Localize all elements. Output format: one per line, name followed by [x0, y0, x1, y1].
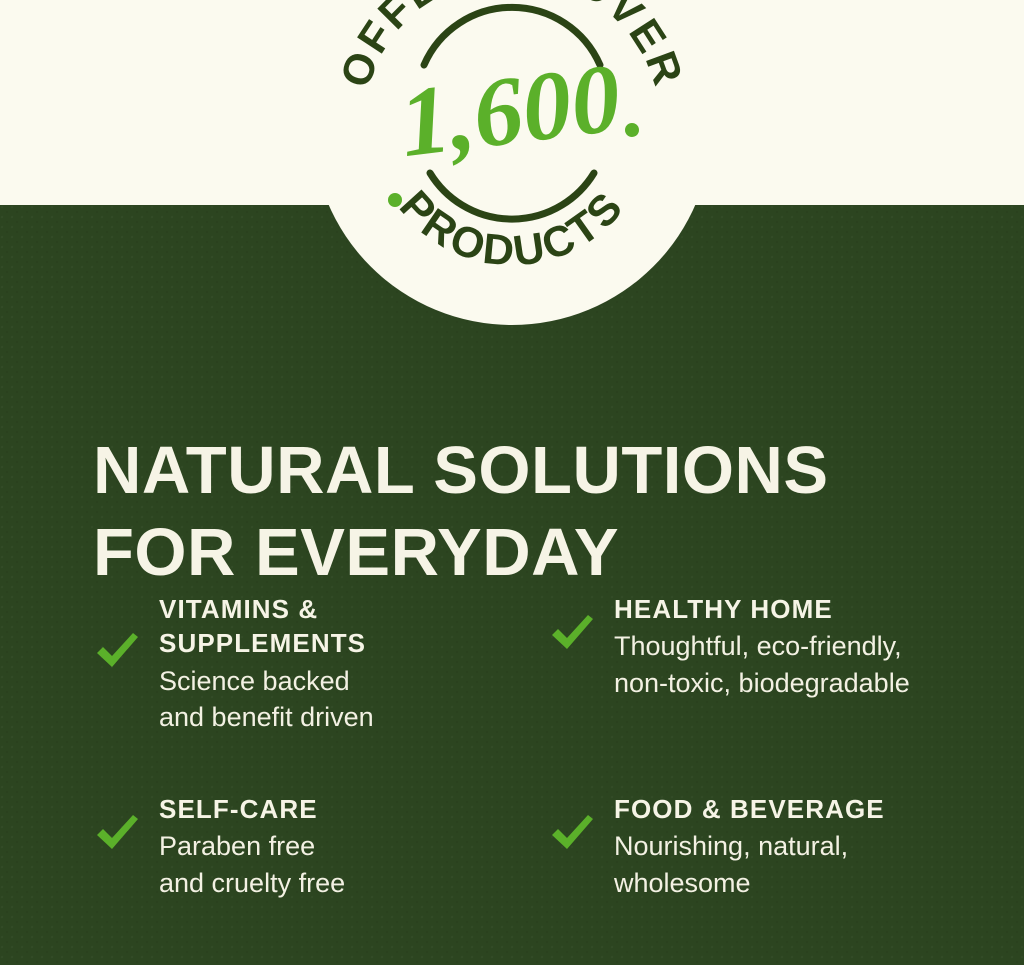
feature-text: HEALTHY HOME Thoughtful, eco-friendly, n… — [614, 592, 924, 702]
feature-description: Science backed and benefit driven — [159, 663, 455, 736]
badge-arc-bottom-text: PRODUCTS — [390, 182, 634, 276]
badge-dot-left — [388, 193, 402, 207]
feature-title: FOOD & BEVERAGE — [614, 792, 924, 826]
check-icon — [93, 808, 141, 856]
feature-item-self-care: SELF-CARE Paraben free and cruelty free — [0, 792, 455, 902]
headline-line-2: FOR EVERYDAY — [93, 512, 973, 594]
feature-item-healthy-home: HEALTHY HOME Thoughtful, eco-friendly, n… — [455, 592, 924, 792]
feature-item-vitamins-supplements: VITAMINS & SUPPLEMENTS Science backed an… — [0, 592, 455, 792]
feature-item-food-beverage: FOOD & BEVERAGE Nourishing, natural, who… — [455, 792, 924, 902]
badge-dot-right — [625, 123, 639, 137]
feature-text: FOOD & BEVERAGE Nourishing, natural, who… — [614, 792, 924, 902]
feature-title: SELF-CARE — [159, 792, 455, 826]
feature-description: Thoughtful, eco-friendly, non-toxic, bio… — [614, 628, 924, 701]
feature-text: SELF-CARE Paraben free and cruelty free — [159, 792, 455, 902]
feature-description: Nourishing, natural, wholesome — [614, 828, 924, 901]
check-icon — [548, 608, 596, 656]
feature-description: Paraben free and cruelty free — [159, 828, 455, 901]
offering-over-products-badge: OFFERING OVER PRODUCTS 1,600 — [312, 0, 712, 325]
headline-line-1: NATURAL SOLUTIONS — [93, 430, 973, 512]
badge-number: 1,600 — [394, 44, 626, 178]
feature-title: HEALTHY HOME — [614, 592, 924, 626]
feature-title: VITAMINS & SUPPLEMENTS — [159, 592, 455, 661]
promo-banner: OFFERING OVER PRODUCTS 1,600 NATURAL SOL… — [0, 0, 1024, 965]
feature-text: VITAMINS & SUPPLEMENTS Science backed an… — [159, 592, 455, 736]
feature-list: VITAMINS & SUPPLEMENTS Science backed an… — [0, 592, 1024, 902]
check-icon — [548, 808, 596, 856]
headline: NATURAL SOLUTIONS FOR EVERYDAY — [93, 430, 973, 593]
check-icon — [93, 626, 141, 674]
